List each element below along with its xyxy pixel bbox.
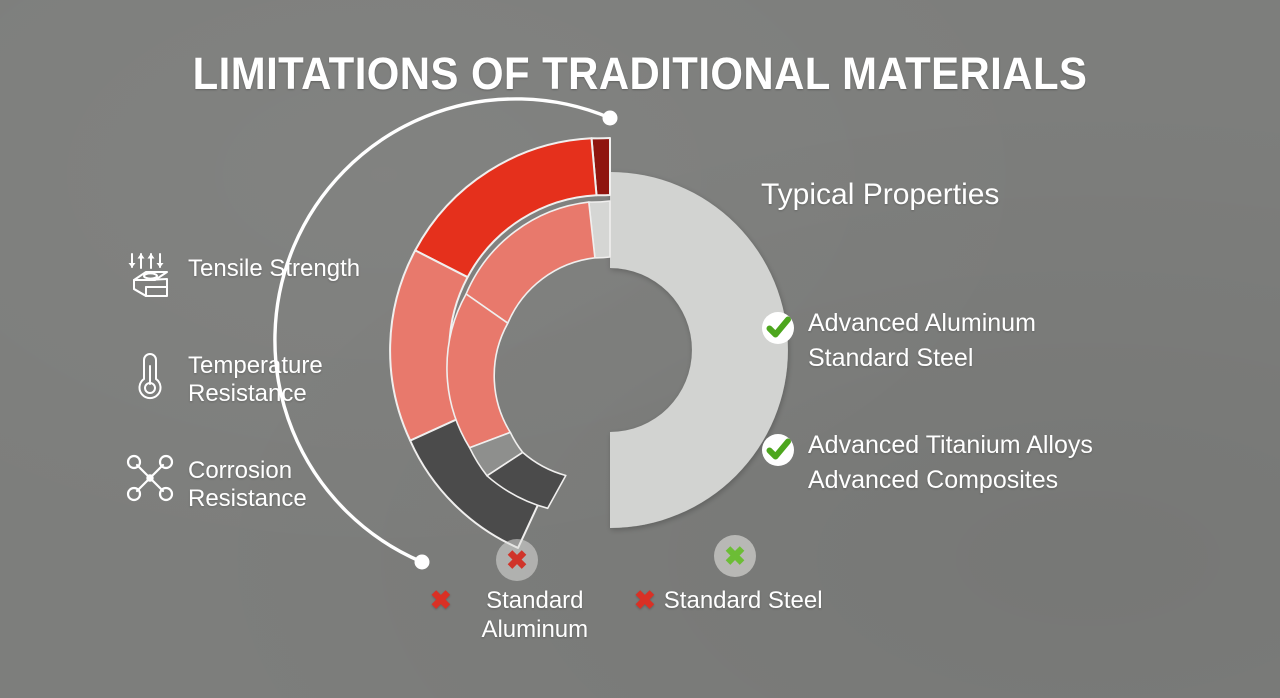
guide-arc-dot-top — [603, 111, 618, 126]
legend-label-line1: Temperature — [188, 352, 323, 379]
material-label-line1: Standard — [486, 587, 583, 614]
property-line1: Advanced Aluminum — [808, 309, 1036, 337]
legend-label-temperature-resistance: Temperature Resistance — [188, 347, 323, 409]
green-check-icon — [758, 430, 798, 470]
page-title: LIMITATIONS OF TRADITIONAL MATERIALS — [45, 48, 1235, 100]
thermometer-icon — [124, 347, 178, 401]
property-line2: Advanced Composites — [808, 466, 1058, 494]
property-group-2-text: Advanced Titanium Alloys Advanced Compos… — [808, 428, 1093, 498]
legend-label-line1: Corrosion — [188, 457, 292, 484]
typical-properties-panel: Typical Properties Advanced Aluminum Sta… — [758, 178, 1228, 550]
corrosion-molecule-icon — [124, 452, 178, 506]
property-line2: Standard Steel — [808, 344, 973, 372]
property-line1: Advanced Titanium Alloys — [808, 431, 1093, 459]
green-check-icon — [758, 308, 798, 348]
property-group-1-text: Advanced Aluminum Standard Steel — [808, 306, 1036, 376]
tensile-strength-icon — [124, 250, 178, 304]
guide-arc-dot-bottom — [415, 555, 430, 570]
material-label-line2: Aluminum — [481, 616, 588, 643]
status-badge-steel[interactable]: ✖ — [714, 535, 756, 577]
legend-label-corrosion-resistance: Corrosion Resistance — [188, 452, 307, 514]
x-icon: ✖ — [634, 586, 656, 616]
panel-heading: Typical Properties — [761, 178, 1228, 212]
property-group-1[interactable]: Advanced Aluminum Standard Steel — [758, 306, 1228, 376]
legend-label-line2: Resistance — [188, 485, 307, 512]
material-label-line1: Standard Steel — [664, 586, 823, 615]
material-label-standard-aluminum[interactable]: ✖ Standard Aluminum — [430, 586, 610, 645]
property-group-2[interactable]: Advanced Titanium Alloys Advanced Compos… — [758, 428, 1228, 498]
material-label-standard-steel[interactable]: ✖ Standard Steel — [634, 586, 823, 616]
x-icon: ✖ — [430, 586, 452, 616]
status-badge-aluminum[interactable]: ✖ — [496, 539, 538, 581]
materials-donut-chart — [330, 110, 830, 590]
legend-label-line2: Resistance — [188, 380, 307, 407]
